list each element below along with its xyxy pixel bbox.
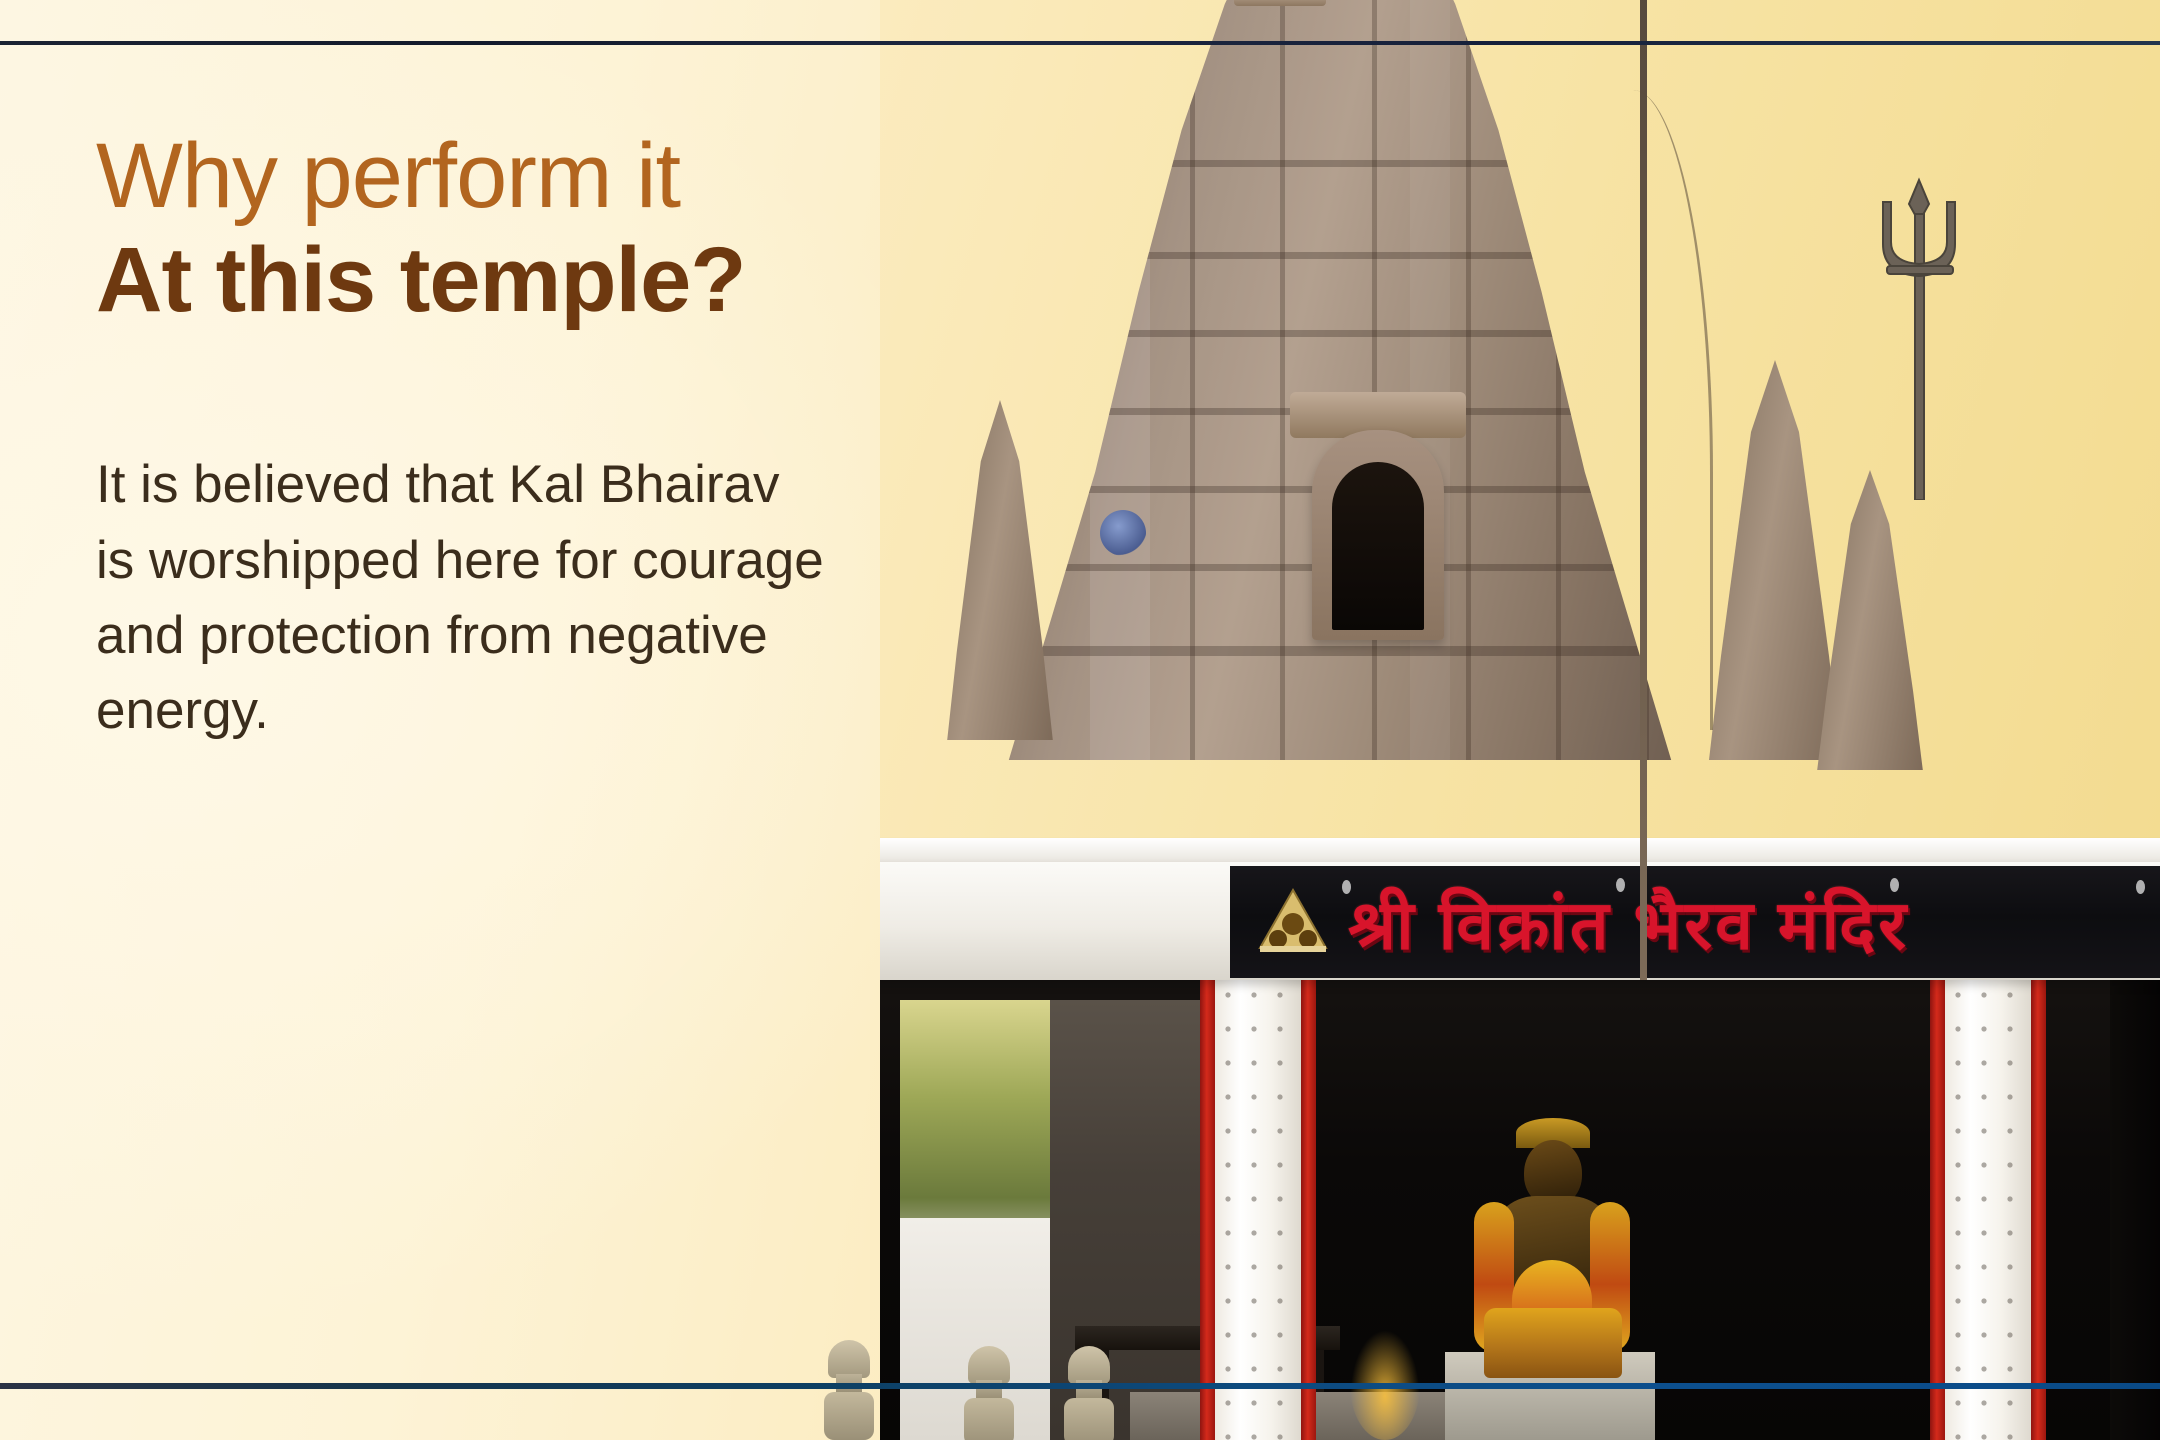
text-block: Why perform it At this temple? It is bel… — [96, 130, 956, 748]
white-pillar-right — [1945, 978, 2031, 1440]
top-divider-rule — [0, 41, 2160, 45]
signboard-text: श्री विक्रांत भैरव मंदिर — [1348, 876, 1909, 969]
bottom-divider-rule — [0, 1383, 2160, 1389]
right-dark-column — [2110, 978, 2160, 1440]
pillar-red-trim-left-inner — [1301, 978, 1316, 1440]
deity-idol — [1468, 1140, 1636, 1370]
pillar-red-trim-right-inner — [2031, 978, 2046, 1440]
temple-signboard: श्री विक्रांत भैरव मंदिर — [1230, 866, 2160, 978]
temple-photo: श्री विक्रांत भैरव मंदिर — [880, 0, 2160, 1440]
baluster-2 — [960, 1346, 1018, 1440]
body-paragraph: It is believed that Kal Bhairav is worsh… — [96, 447, 826, 748]
white-pillar-left — [1215, 978, 1301, 1440]
temple-emblem-icon — [1254, 882, 1332, 960]
spire-blue-ornament — [1100, 510, 1146, 556]
pillar-red-trim-right — [1930, 978, 1945, 1440]
baluster-3 — [1060, 1346, 1118, 1440]
slide-canvas: श्री विक्रांत भैरव मंदिर Why perform it … — [0, 0, 2160, 1440]
niche-opening — [1332, 462, 1424, 630]
pillar-red-trim-left — [1200, 978, 1215, 1440]
trishul-icon — [1865, 170, 1975, 500]
heading-line-1: Why perform it — [96, 130, 956, 224]
spire-finial-stack — [1232, 0, 1328, 30]
heading-line-2: At this temple? — [96, 232, 956, 330]
baluster-1 — [820, 1340, 878, 1440]
